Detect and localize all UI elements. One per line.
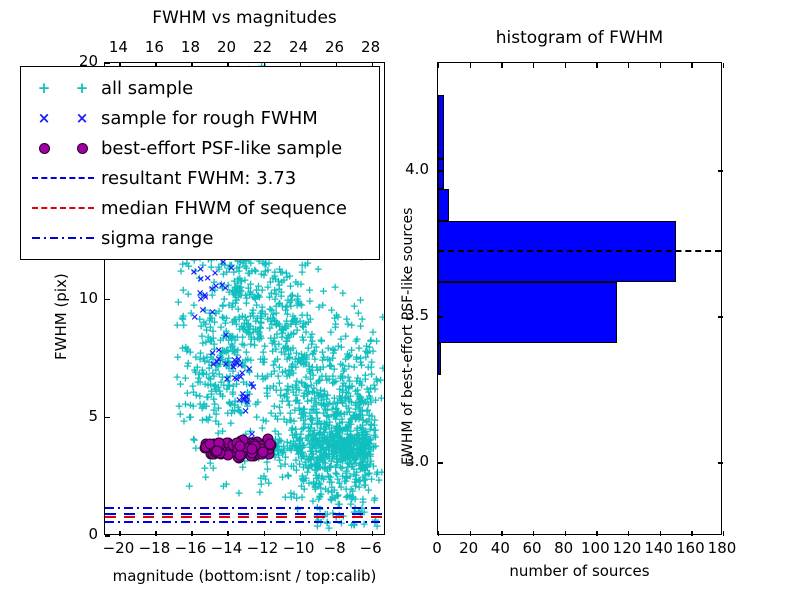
scatter-point-all: +	[297, 378, 306, 389]
scatter-point-all: +	[307, 446, 316, 457]
histogram-bar	[438, 159, 444, 188]
scatter-point-all: +	[281, 301, 290, 312]
x-tick-label-top: 28	[349, 38, 393, 56]
scatter-point-all: +	[368, 326, 377, 337]
scatter-point-psf	[212, 445, 223, 456]
x-tick	[628, 531, 629, 536]
scatter-point-all: +	[178, 313, 187, 324]
scatter-point-all: +	[282, 417, 291, 428]
scatter-point-all: +	[338, 371, 347, 382]
x-tick	[691, 531, 692, 536]
scatter-point-rough: ×	[199, 306, 207, 316]
y-tick-right	[718, 316, 723, 317]
x-tick	[501, 531, 502, 536]
scatter-point-all: +	[344, 403, 353, 414]
x-tick	[191, 531, 192, 536]
scatter-point-all: +	[246, 279, 255, 290]
scatter-point-all: +	[254, 281, 263, 292]
x-tick-top	[723, 63, 724, 68]
scatter-point-all: +	[273, 354, 282, 365]
scatter-point-all: +	[301, 460, 310, 471]
x-tick	[596, 531, 597, 536]
scatter-point-all: +	[256, 353, 265, 364]
legend-item-median-fwhm: median FHWM of sequence	[25, 193, 375, 223]
scatter-point-all: +	[214, 419, 223, 430]
median-fwhm-line	[105, 516, 384, 518]
scatter-point-all: +	[356, 321, 365, 332]
dashed-line-red-marker	[25, 207, 101, 209]
scatter-point-all: +	[314, 264, 323, 275]
scatter-point-all: +	[349, 464, 358, 475]
scatter-point-all: +	[308, 495, 317, 506]
scatter-point-all: +	[321, 484, 330, 495]
scatter-point-all: +	[251, 265, 260, 276]
y-tick	[105, 62, 110, 63]
scatter-point-psf	[264, 439, 275, 450]
scatter-point-all: +	[354, 342, 363, 353]
scatter-point-all: +	[341, 331, 350, 342]
scatter-point-all: +	[305, 295, 314, 306]
histogram-axes	[437, 62, 722, 535]
x-tick-top	[438, 63, 439, 68]
scatter-point-all: +	[258, 423, 267, 434]
x-tick-top	[691, 63, 692, 68]
scatter-point-rough: ×	[227, 264, 235, 274]
scatter-point-all: +	[275, 320, 284, 331]
scatter-point-rough: ×	[203, 274, 211, 284]
legend-box: ++ all sample ×× sample for rough FWHM b…	[20, 66, 380, 260]
scatter-point-all: +	[179, 416, 188, 427]
scatter-point-all: +	[191, 367, 200, 378]
left-ylabel: FWHM (pix)	[52, 273, 70, 360]
y-tick-label: 0	[56, 525, 98, 543]
scatter-point-all: +	[293, 293, 302, 304]
scatter-point-psf	[246, 443, 257, 454]
scatter-point-all: +	[295, 404, 304, 415]
scatter-point-all: +	[284, 471, 293, 482]
legend-label: all sample	[101, 78, 193, 99]
scatter-point-all: +	[184, 289, 193, 300]
scatter-point-all: +	[261, 474, 270, 485]
x-tick	[470, 531, 471, 536]
legend-label: sigma range	[101, 228, 213, 249]
x-tick	[660, 531, 661, 536]
scatter-point-all: +	[319, 285, 328, 296]
y-tick-right	[718, 462, 723, 463]
figure-canvas: FWHM vs magnitudes +++++++++++++++++++++…	[0, 0, 800, 600]
x-tick-top	[565, 63, 566, 68]
scatter-point-all: +	[333, 398, 342, 409]
x-tick	[119, 531, 120, 536]
legend-label: sample for rough FWHM	[101, 108, 318, 129]
scatter-point-rough: ×	[221, 284, 229, 294]
left-panel-title: FWHM vs magnitudes	[104, 8, 385, 28]
scatter-point-all: +	[363, 454, 372, 465]
legend-label: median FHWM of sequence	[101, 198, 347, 219]
scatter-point-all: +	[355, 396, 364, 407]
scatter-point-all: +	[245, 327, 254, 338]
scatter-point-all: +	[176, 379, 185, 390]
legend-item-rough-fwhm: ×× sample for rough FWHM	[25, 103, 375, 133]
y-tick	[438, 170, 443, 171]
scatter-point-all: +	[315, 374, 324, 385]
scatter-point-all: +	[226, 417, 235, 428]
y-tick	[105, 535, 110, 536]
scatter-point-all: +	[263, 390, 272, 401]
histogram-bars-layer	[438, 63, 721, 534]
scatter-point-all: +	[324, 447, 333, 458]
scatter-point-all: +	[326, 326, 335, 337]
x-tick	[264, 531, 265, 536]
x-tick-label: 180	[700, 539, 744, 557]
scatter-point-all: +	[206, 379, 215, 390]
legend-label: best-effort PSF-like sample	[101, 138, 342, 159]
y-tick-label: 5	[56, 407, 98, 425]
scatter-point-all: +	[366, 392, 375, 403]
scatter-point-all: +	[239, 339, 248, 350]
scatter-point-all: +	[345, 489, 354, 500]
dashed-line-blue-marker	[25, 177, 101, 179]
scatter-point-all: +	[305, 285, 314, 296]
scatter-point-all: +	[370, 493, 379, 504]
scatter-point-all: +	[250, 293, 259, 304]
sigma-range-lower-line	[105, 521, 384, 523]
scatter-point-all: +	[183, 344, 192, 355]
y-tick-label: 4.0	[385, 160, 429, 178]
x-tick	[300, 531, 301, 536]
scatter-point-all: +	[173, 351, 182, 362]
x-tick-top	[501, 63, 502, 68]
scatter-point-rough: ×	[211, 269, 219, 279]
x-tick-label: −6	[349, 539, 393, 557]
x-tick	[565, 531, 566, 536]
scatter-point-all: +	[229, 286, 238, 297]
scatter-point-rough: ×	[197, 295, 205, 305]
scatter-point-rough: ×	[222, 360, 230, 370]
x-tick-top	[596, 63, 597, 68]
scatter-point-all: +	[350, 477, 359, 488]
legend-item-sigma-range: sigma range	[25, 223, 375, 253]
scatter-point-all: +	[338, 384, 347, 395]
scatter-point-all: +	[291, 319, 300, 330]
scatter-point-all: +	[286, 488, 295, 499]
scatter-point-all: +	[352, 375, 361, 386]
scatter-point-all: +	[377, 467, 384, 478]
scatter-point-all: +	[242, 292, 251, 303]
y-tick	[105, 299, 110, 300]
histogram-bar	[438, 282, 617, 343]
x-tick	[438, 531, 439, 536]
scatter-point-all: +	[176, 265, 185, 276]
legend-item-all-sample: ++ all sample	[25, 73, 375, 103]
x-tick	[372, 531, 373, 536]
scatter-point-rough: ×	[233, 375, 241, 385]
scatter-point-all: +	[318, 299, 327, 310]
x-tick-top	[628, 63, 629, 68]
scatter-point-all: +	[283, 342, 292, 353]
circle-marker	[25, 143, 101, 154]
scatter-point-all: +	[199, 317, 208, 328]
x-tick	[155, 531, 156, 536]
scatter-point-rough: ×	[247, 380, 255, 390]
scatter-point-rough: ×	[222, 331, 230, 341]
scatter-point-rough: ×	[235, 396, 243, 406]
scatter-point-all: +	[222, 479, 231, 490]
scatter-point-all: +	[209, 463, 218, 474]
right-panel-title: histogram of FWHM	[437, 28, 722, 48]
scatter-point-all: +	[299, 476, 308, 487]
left-xlabel: magnitude (bottom:isnt / top:calib)	[104, 567, 385, 585]
scatter-point-all: +	[202, 391, 211, 402]
scatter-point-rough: ×	[208, 285, 216, 295]
y-tick	[438, 462, 443, 463]
scatter-point-all: +	[310, 482, 319, 493]
scatter-point-all: +	[282, 389, 291, 400]
histogram-bar	[438, 95, 444, 159]
scatter-point-all: +	[298, 259, 307, 270]
scatter-point-rough: ×	[241, 407, 249, 417]
scatter-point-all: +	[221, 317, 230, 328]
scatter-point-all: +	[325, 354, 334, 365]
scatter-point-all: +	[292, 428, 301, 439]
scatter-point-all: +	[354, 307, 363, 318]
scatter-point-all: +	[272, 385, 281, 396]
scatter-point-all: +	[285, 271, 294, 282]
scatter-point-all: +	[204, 331, 213, 342]
histogram-bar	[438, 189, 449, 221]
scatter-point-all: +	[174, 296, 183, 307]
right-ylabel: FWHM of best-effort PSF-like sources	[400, 208, 416, 465]
scatter-point-all: +	[345, 430, 354, 441]
scatter-point-all: +	[293, 356, 302, 367]
scatter-point-all: +	[183, 360, 192, 371]
scatter-point-all: +	[342, 313, 351, 324]
scatter-point-all: +	[256, 307, 265, 318]
scatter-point-all: +	[265, 291, 274, 302]
scatter-point-all: +	[365, 433, 374, 444]
scatter-point-all: +	[275, 263, 284, 274]
y-tick	[438, 316, 443, 317]
scatter-point-all: +	[279, 441, 288, 452]
scatter-point-rough: ×	[190, 313, 198, 323]
scatter-point-all: +	[331, 282, 340, 293]
x-tick-top	[533, 63, 534, 68]
right-xlabel: number of sources	[437, 562, 722, 580]
legend-item-resultant-fwhm: resultant FWHM: 3.73	[25, 163, 375, 193]
legend-label: resultant FWHM: 3.73	[101, 168, 296, 189]
x-tick	[227, 531, 228, 536]
scatter-point-all: +	[230, 313, 239, 324]
scatter-point-all: +	[274, 275, 283, 286]
x-tick	[336, 531, 337, 536]
scatter-point-all: +	[378, 311, 384, 322]
histogram-resultant-fwhm-line	[438, 250, 721, 252]
x-tick	[723, 531, 724, 536]
scatter-point-all: +	[356, 295, 365, 306]
scatter-point-all: +	[281, 365, 290, 376]
resultant-fwhm-line	[105, 513, 384, 515]
scatter-point-all: +	[324, 523, 333, 534]
plus-marker: ++	[25, 81, 101, 96]
scatter-point-all: +	[253, 396, 262, 407]
histogram-bar	[438, 343, 441, 375]
scatter-point-all: +	[234, 487, 243, 498]
x-tick	[533, 531, 534, 536]
x-tick-top	[660, 63, 661, 68]
scatter-point-rough: ×	[208, 308, 216, 318]
dashdot-line-blue-marker	[25, 237, 101, 239]
y-tick-right	[718, 170, 723, 171]
scatter-point-all: +	[293, 279, 302, 290]
scatter-point-all: +	[185, 481, 194, 492]
cross-marker: ××	[25, 111, 101, 126]
scatter-point-all: +	[307, 328, 316, 339]
y-tick	[105, 417, 110, 418]
scatter-point-all: +	[328, 344, 337, 355]
scatter-point-all: +	[255, 486, 264, 497]
scatter-point-all: +	[283, 354, 292, 365]
scatter-point-all: +	[313, 461, 322, 472]
sigma-range-upper-line	[105, 507, 384, 509]
scatter-point-all: +	[189, 433, 198, 444]
scatter-point-all: +	[312, 341, 321, 352]
scatter-point-all: +	[307, 395, 316, 406]
scatter-point-psf	[235, 441, 246, 452]
x-tick-top	[470, 63, 471, 68]
scatter-point-all: +	[304, 361, 313, 372]
legend-item-psf-like: best-effort PSF-like sample	[25, 133, 375, 163]
